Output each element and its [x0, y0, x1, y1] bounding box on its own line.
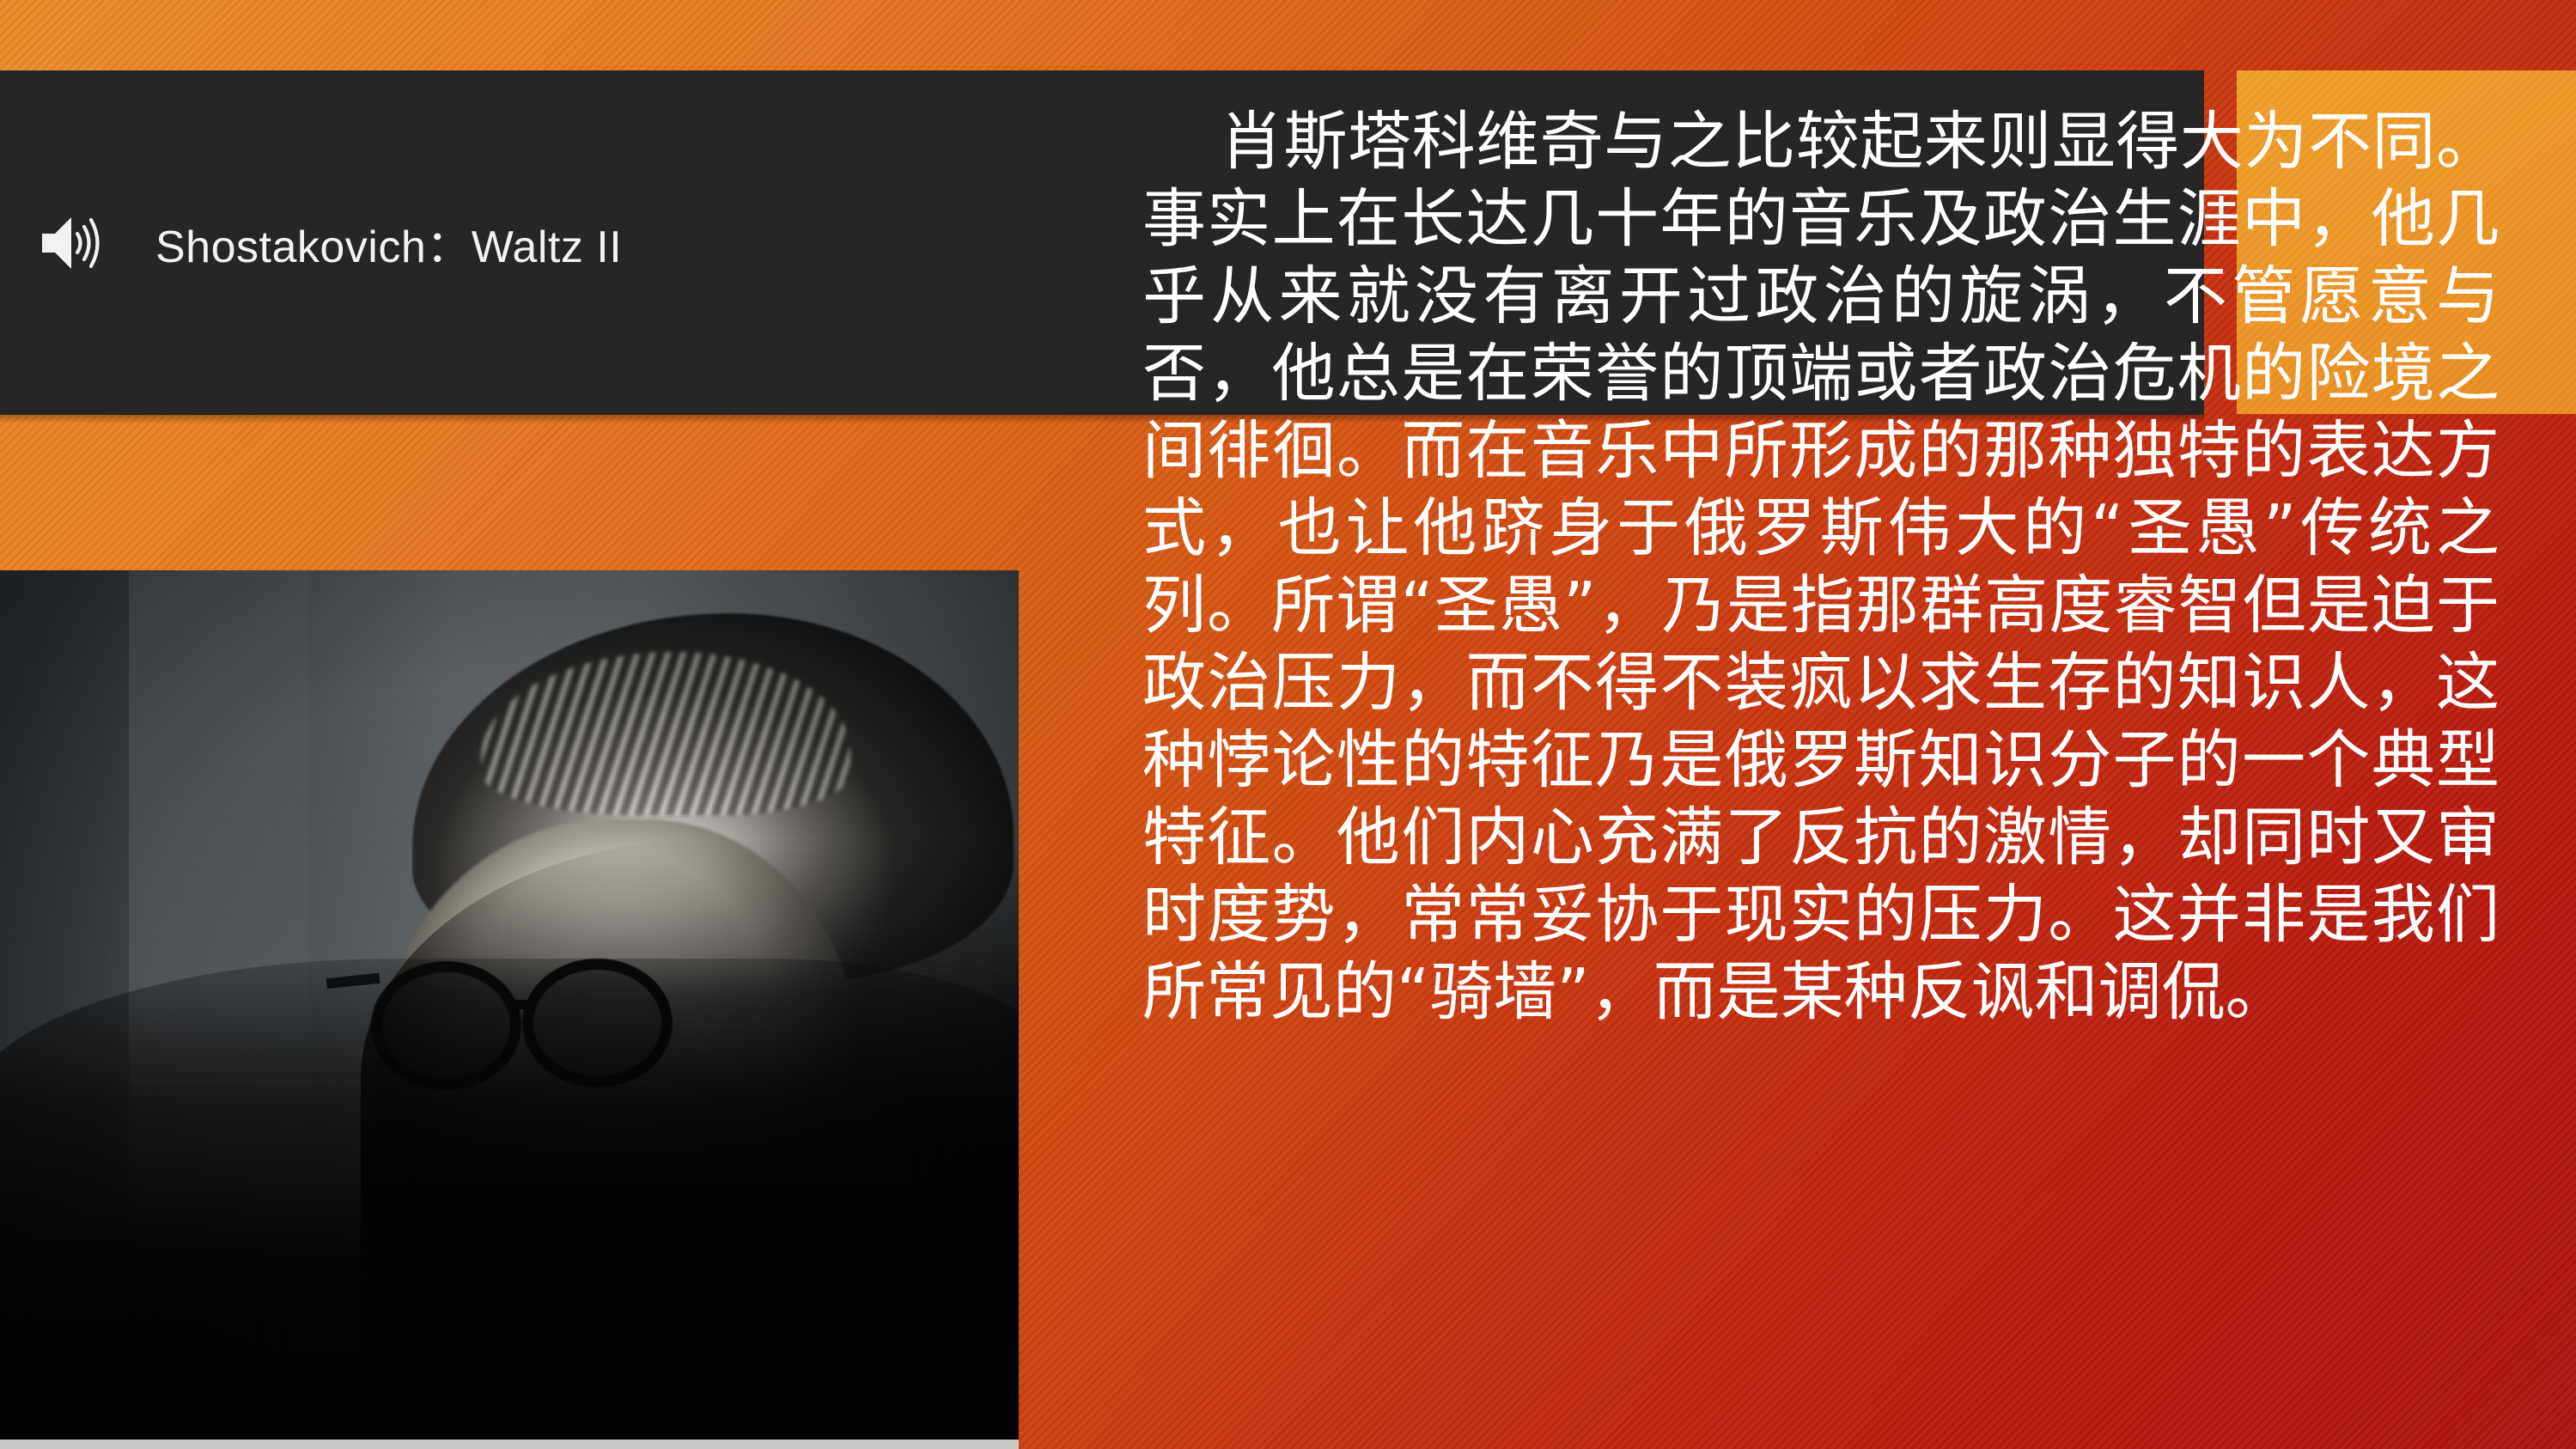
speaker-volume-icon[interactable]: [39, 210, 106, 277]
audio-player[interactable]: Shostakovich：Waltz II: [0, 70, 1108, 415]
body-paragraph: 肖斯塔科维奇与之比较起来则显得大为不同。事实上在长达几十年的音乐及政治生涯中，他…: [1142, 103, 2500, 1031]
photo-bottom-edge: [0, 1440, 1019, 1449]
shostakovich-portrait-photo: [0, 570, 1019, 1440]
presentation-slide: Shostakovich：Waltz II 肖斯塔科维奇与之比较起来则显得大为不…: [0, 0, 2576, 1449]
audio-track-title: Shostakovich：Waltz II: [155, 210, 622, 275]
photo-vignette: [0, 570, 1019, 1440]
